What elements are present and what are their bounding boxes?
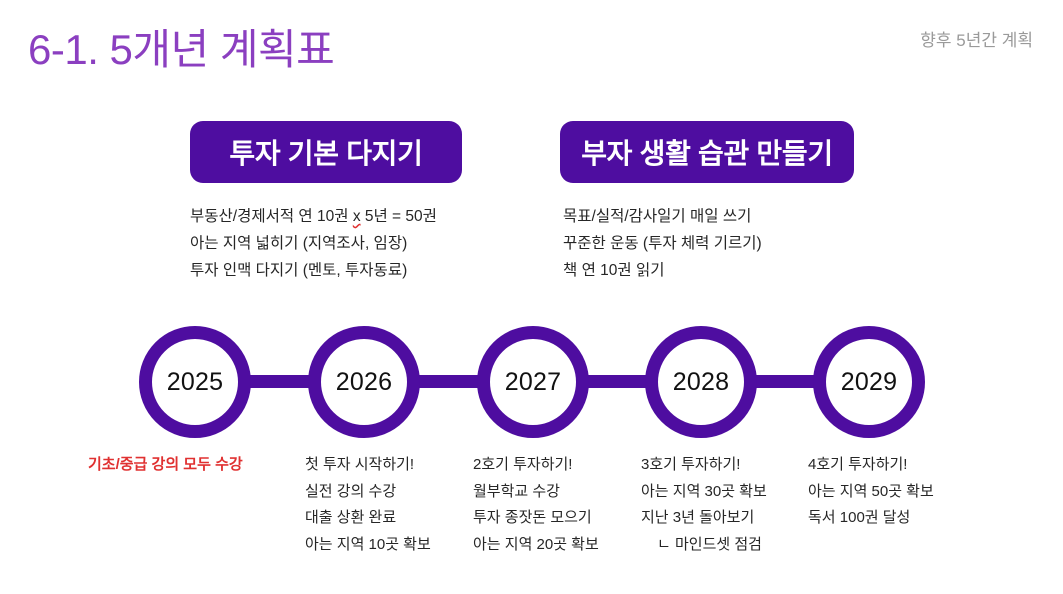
timeline: 20252026202720282029	[0, 326, 1063, 438]
theme-body-0: 부동산/경제서적 연 10권 x 5년 = 50권아는 지역 넓히기 (지역조사…	[190, 203, 437, 284]
year-detail-item: 실전 강의 수강	[305, 479, 431, 506]
timeline-node-2025[interactable]: 2025	[139, 326, 251, 438]
timeline-node-2026[interactable]: 2026	[308, 326, 420, 438]
theme-body-line: 투자 인맥 다지기 (멘토, 투자동료)	[190, 257, 437, 284]
timeline-node-2029[interactable]: 2029	[813, 326, 925, 438]
timeline-year-label: 2029	[841, 368, 897, 397]
timeline-connector	[751, 375, 819, 388]
year-detail-item: 아는 지역 50곳 확보	[808, 479, 934, 506]
timeline-node-2027[interactable]: 2027	[477, 326, 589, 438]
timeline-connector	[245, 375, 314, 388]
spellcheck-error-text: x	[353, 208, 361, 225]
theme-line-text: 부동산/경제서적 연 10권	[190, 208, 353, 225]
year-detail-item: 지난 3년 돌아보기	[641, 505, 767, 532]
year-detail-item: 대출 상환 완료	[305, 505, 431, 532]
timeline-year-label: 2025	[167, 368, 223, 397]
timeline-connector	[414, 375, 483, 388]
year-detail-item: 아는 지역 30곳 확보	[641, 479, 767, 506]
theme-heading-label-0: 투자 기본 다지기	[229, 132, 422, 172]
year-detail-item: 2호기 투자하기!	[473, 452, 599, 479]
year-detail-column-2026: 첫 투자 시작하기!실전 강의 수강대출 상환 완료아는 지역 10곳 확보	[305, 452, 431, 558]
year-detail-column-2025: 기초/중급 강의 모두 수강	[88, 452, 243, 479]
year-detail-item: 기초/중급 강의 모두 수강	[88, 452, 243, 479]
timeline-year-label: 2026	[336, 368, 392, 397]
page-title: 6-1. 5개년 계획표	[28, 16, 334, 77]
theme-body-line: 꾸준한 운동 (투자 체력 기르기)	[563, 230, 762, 257]
year-detail-subitem: ㄴ 마인드셋 점검	[641, 532, 767, 559]
year-detail-item: 3호기 투자하기!	[641, 452, 767, 479]
timeline-year-label: 2028	[673, 368, 729, 397]
year-detail-column-2028: 3호기 투자하기!아는 지역 30곳 확보지난 3년 돌아보기ㄴ 마인드셋 점검	[641, 452, 767, 558]
timeline-node-2028[interactable]: 2028	[645, 326, 757, 438]
theme-body-line: 부동산/경제서적 연 10권 x 5년 = 50권	[190, 203, 437, 230]
year-detail-item: 아는 지역 20곳 확보	[473, 532, 599, 559]
theme-body-1: 목표/실적/감사일기 매일 쓰기꾸준한 운동 (투자 체력 기르기)책 연 10…	[563, 203, 762, 284]
theme-body-line: 아는 지역 넓히기 (지역조사, 임장)	[190, 230, 437, 257]
theme-heading-label-1: 부자 생활 습관 만들기	[581, 132, 833, 172]
year-detail-column-2029: 4호기 투자하기!아는 지역 50곳 확보독서 100권 달성	[808, 452, 934, 532]
theme-heading-pill-1: 부자 생활 습관 만들기	[560, 121, 854, 183]
year-detail-item: 독서 100권 달성	[808, 505, 934, 532]
theme-heading-pill-0: 투자 기본 다지기	[190, 121, 462, 183]
theme-body-line: 목표/실적/감사일기 매일 쓰기	[563, 203, 762, 230]
slide-canvas: 6-1. 5개년 계획표 향후 5년간 계획 투자 기본 다지기 부동산/경제서…	[0, 0, 1063, 594]
year-detail-item: 첫 투자 시작하기!	[305, 452, 431, 479]
timeline-connector	[583, 375, 651, 388]
year-detail-item: 투자 종잣돈 모으기	[473, 505, 599, 532]
theme-body-line: 책 연 10권 읽기	[563, 257, 762, 284]
year-detail-column-2027: 2호기 투자하기!월부학교 수강투자 종잣돈 모으기아는 지역 20곳 확보	[473, 452, 599, 558]
theme-line-text: 5년 = 50권	[361, 208, 437, 225]
slide-subtitle: 향후 5년간 계획	[920, 26, 1033, 51]
year-detail-item: 월부학교 수강	[473, 479, 599, 506]
timeline-year-label: 2027	[505, 368, 561, 397]
year-detail-item: 4호기 투자하기!	[808, 452, 934, 479]
year-detail-item: 아는 지역 10곳 확보	[305, 532, 431, 559]
